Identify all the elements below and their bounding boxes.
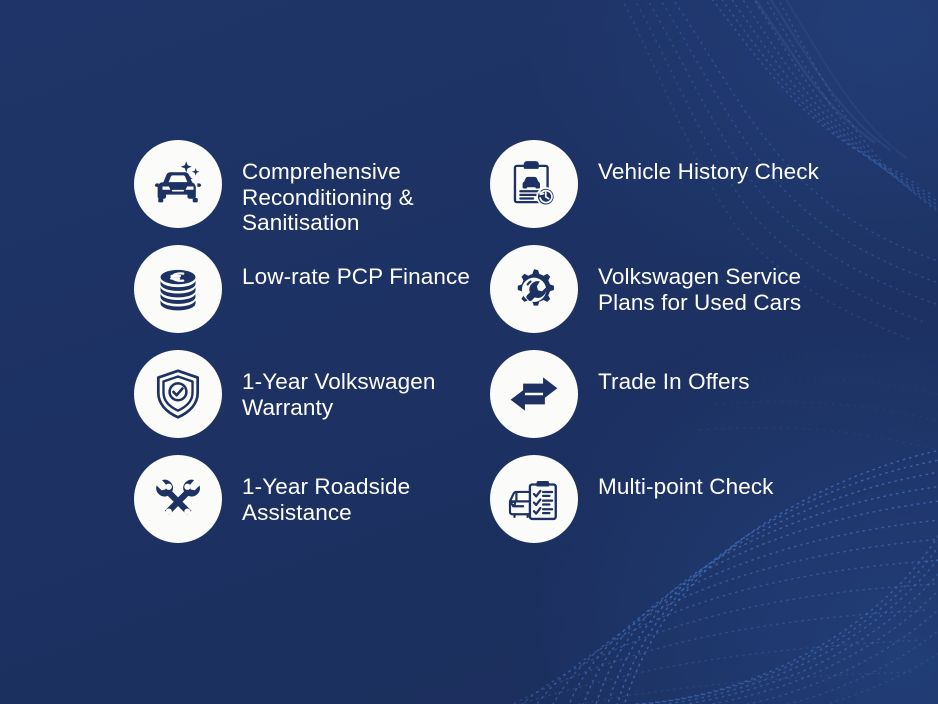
benefit-label: 1-Year Volkswagen Warranty (242, 350, 490, 420)
benefit-item-one-year-volkswagen-warranty: 1-Year Volkswagen Warranty (134, 350, 490, 438)
benefit-item-trade-in-offers: Trade In Offers (490, 350, 834, 438)
benefit-item-multi-point-check: Multi-point Check (490, 455, 834, 543)
benefit-label: Multi-point Check (598, 455, 774, 500)
shield-check-icon (134, 350, 222, 438)
benefit-item-volkswagen-service-plans-used-cars: Volkswagen Service Plans for Used Cars (490, 245, 834, 333)
benefit-item-comprehensive-reconditioning-sanitisation: Comprehensive Reconditioning & Sanitisat… (134, 140, 490, 236)
benefit-item-low-rate-pcp-finance: Low-rate PCP Finance (134, 245, 490, 333)
benefit-label: 1-Year Roadside Assistance (242, 455, 490, 525)
exchange-arrows-icon (490, 350, 578, 438)
car-sparkle-icon (134, 140, 222, 228)
coin-stack-euro-icon (134, 245, 222, 333)
benefits-banner: Comprehensive Reconditioning & Sanitisat… (0, 0, 938, 704)
benefit-label: Low-rate PCP Finance (242, 245, 470, 290)
benefit-label: Volkswagen Service Plans for Used Cars (598, 245, 834, 315)
benefit-label: Vehicle History Check (598, 140, 819, 185)
benefit-label: Comprehensive Reconditioning & Sanitisat… (242, 140, 490, 236)
benefits-grid: Comprehensive Reconditioning & Sanitisat… (134, 140, 834, 560)
benefit-label: Trade In Offers (598, 350, 750, 395)
gear-wrench-icon (490, 245, 578, 333)
crossed-wrenches-icon (134, 455, 222, 543)
benefit-item-vehicle-history-check: Vehicle History Check (490, 140, 834, 228)
clipboard-car-history-icon (490, 140, 578, 228)
benefit-item-one-year-roadside-assistance: 1-Year Roadside Assistance (134, 455, 490, 543)
car-checklist-icon (490, 455, 578, 543)
